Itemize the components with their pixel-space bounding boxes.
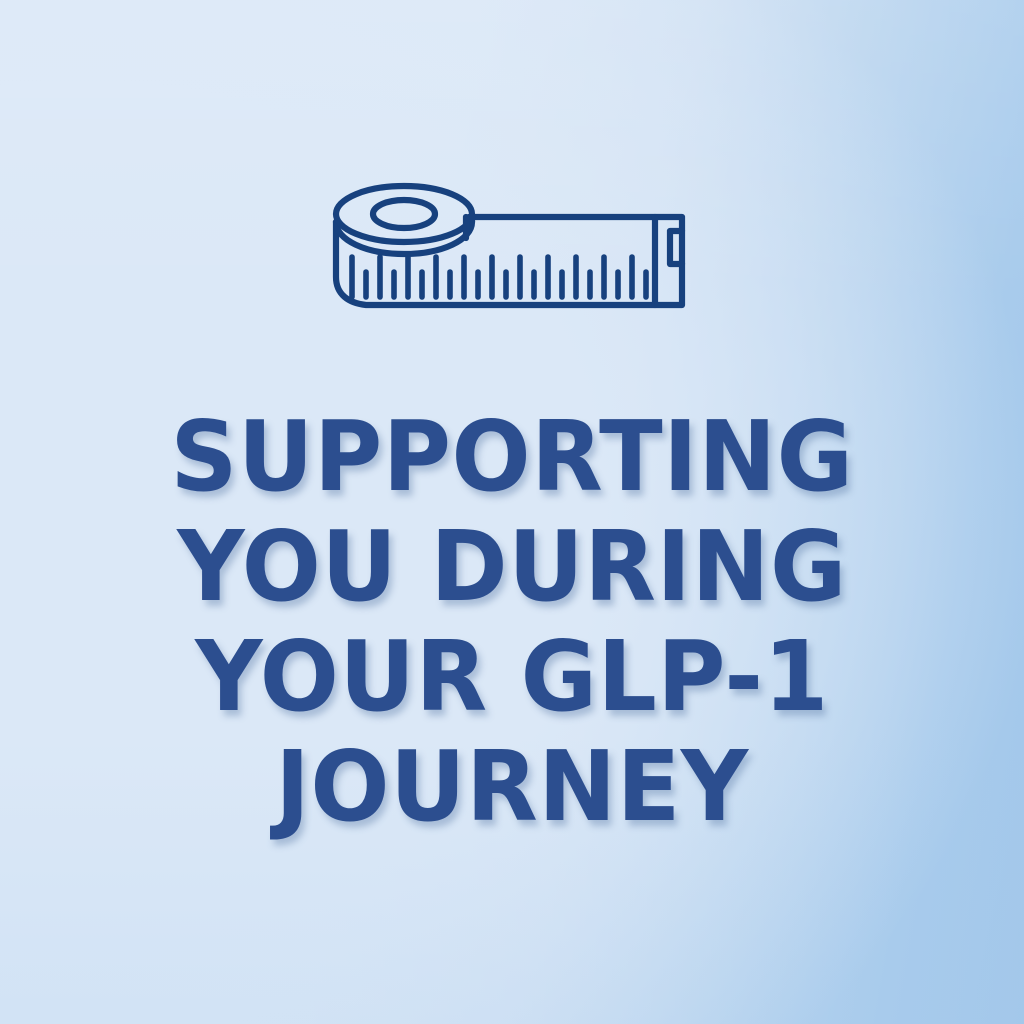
tape-measure-icon-container (0, 176, 1024, 324)
headline-line-3: YOUR GLP-1 (78, 622, 946, 732)
promotional-poster: SUPPORTING YOU DURING YOUR GLP-1 JOURNEY (0, 0, 1024, 1024)
headline-line-4: JOURNEY (78, 732, 946, 842)
headline-line-1: SUPPORTING (78, 402, 946, 512)
headline-line-2: YOU DURING (78, 512, 946, 622)
tape-measure-icon (314, 176, 710, 324)
headline: SUPPORTING YOU DURING YOUR GLP-1 JOURNEY (0, 402, 1024, 842)
